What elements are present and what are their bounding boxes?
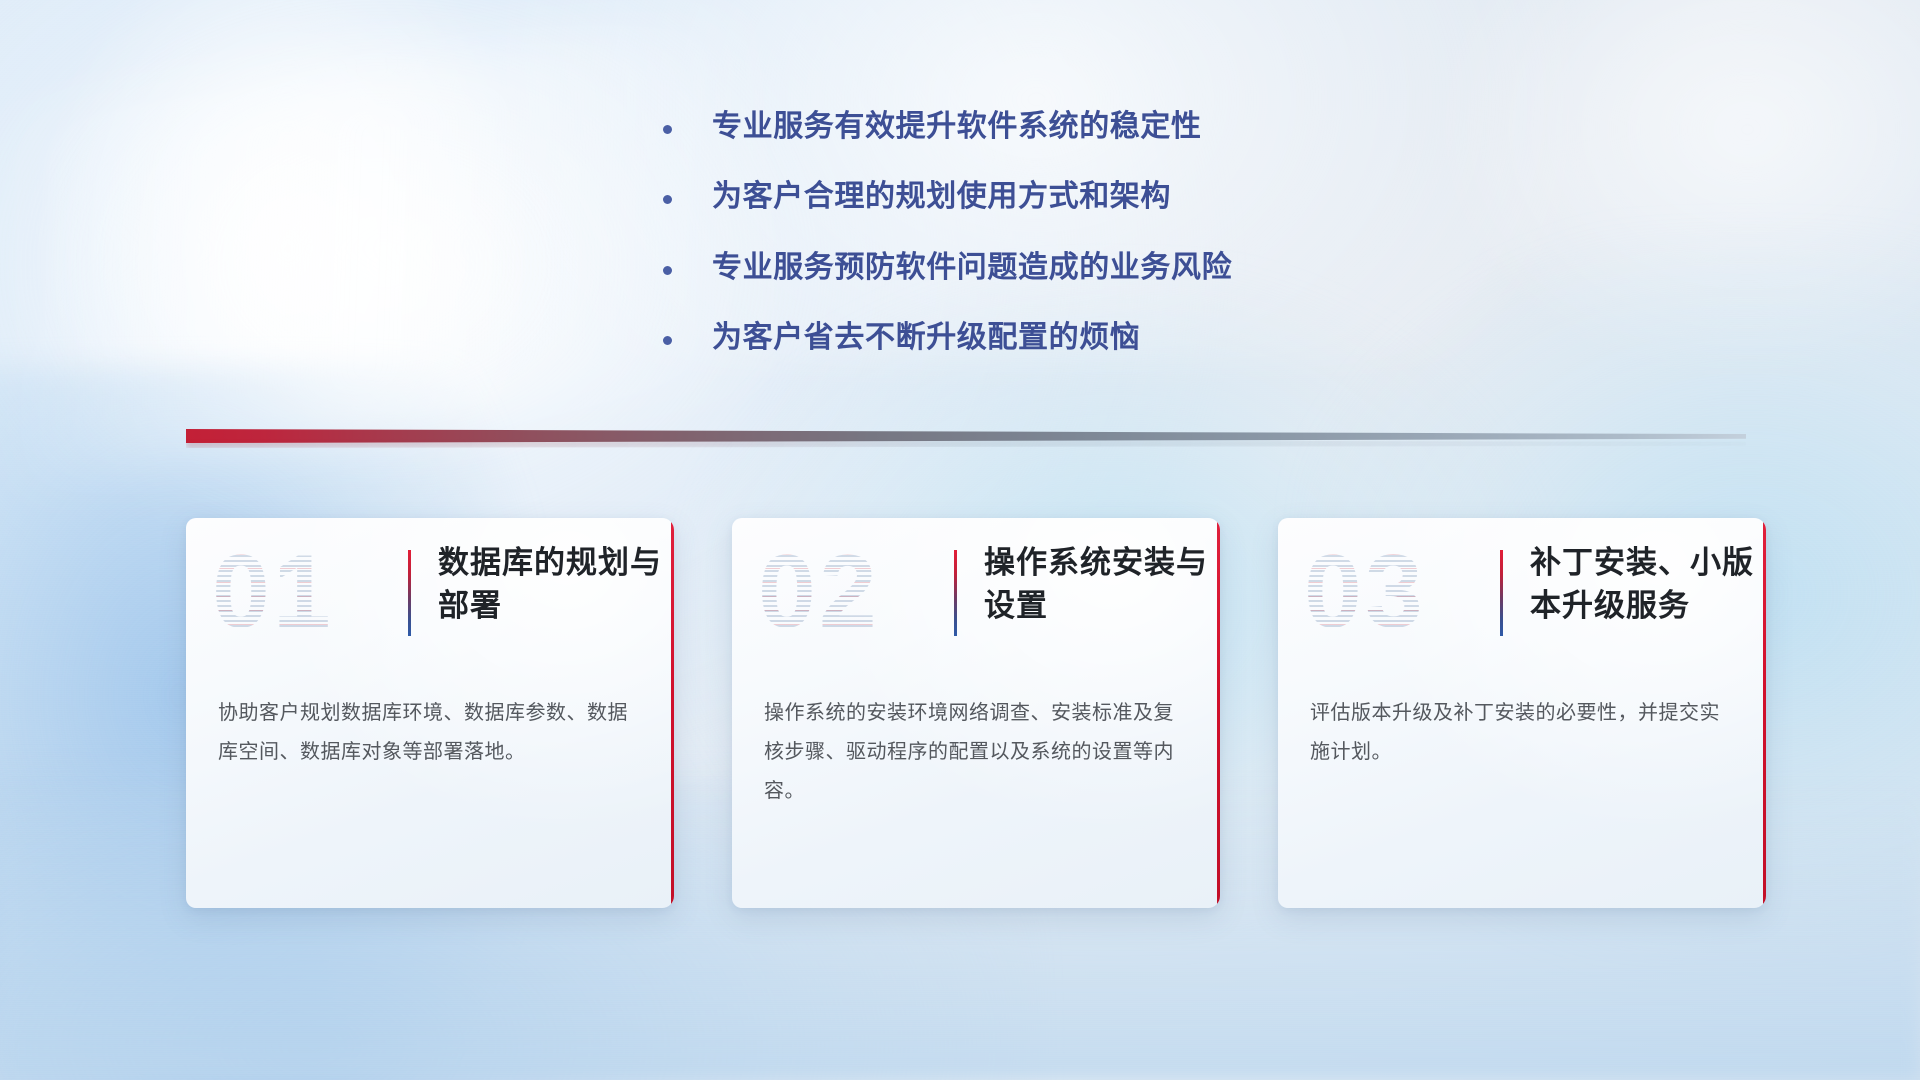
service-card-01[interactable]: 01 01 数据库的规划与部署 协助客户规划数据库环境、数据库参数、数据库空间、…: [186, 518, 674, 908]
list-item: 为客户省去不断升级配置的烦恼: [663, 319, 1423, 357]
card-title: 补丁安装、小版本升级服务: [1530, 542, 1758, 628]
list-item: 专业服务预防软件问题造成的业务风险: [663, 249, 1423, 287]
divider-line: [186, 429, 1746, 443]
bullet-dot-icon: [663, 266, 672, 275]
card-number-watermark-tint: 01: [212, 540, 334, 644]
card-divider-bar: [408, 550, 411, 636]
card-divider-bar: [954, 550, 957, 636]
list-item: 专业服务有效提升软件系统的稳定性: [663, 108, 1423, 146]
card-description: 协助客户规划数据库环境、数据库参数、数据库空间、数据库对象等部署落地。: [218, 694, 642, 772]
card-divider-bar: [1500, 550, 1503, 636]
bullet-label: 为客户合理的规划使用方式和架构: [712, 178, 1171, 216]
card-number-watermark-tint: 03: [1304, 540, 1426, 644]
card-title: 操作系统安装与设置: [984, 542, 1212, 628]
bullet-label: 专业服务有效提升软件系统的稳定性: [712, 108, 1202, 146]
card-description: 评估版本升级及补丁安装的必要性，并提交实施计划。: [1310, 694, 1734, 772]
bullet-dot-icon: [663, 336, 672, 345]
list-item: 为客户合理的规划使用方式和架构: [663, 178, 1423, 216]
bullet-dot-icon: [663, 195, 672, 204]
card-description: 操作系统的安装环境网络调查、安装标准及复核步骤、驱动程序的配置以及系统的设置等内…: [764, 694, 1188, 811]
service-card-03[interactable]: 03 03 补丁安装、小版本升级服务 评估版本升级及补丁安装的必要性，并提交实施…: [1278, 518, 1766, 908]
benefits-bullet-list: 专业服务有效提升软件系统的稳定性 为客户合理的规划使用方式和架构 专业服务预防软…: [663, 108, 1423, 390]
bullet-label: 为客户省去不断升级配置的烦恼: [712, 319, 1140, 357]
card-header: 02 02 操作系统安装与设置: [732, 518, 1220, 670]
bullet-dot-icon: [663, 125, 672, 134]
service-card-group: 01 01 数据库的规划与部署 协助客户规划数据库环境、数据库参数、数据库空间、…: [186, 518, 1766, 908]
service-card-02[interactable]: 02 02 操作系统安装与设置 操作系统的安装环境网络调查、安装标准及复核步骤、…: [732, 518, 1220, 908]
card-title: 数据库的规划与部署: [438, 542, 666, 628]
bullet-label: 专业服务预防软件问题造成的业务风险: [712, 249, 1232, 287]
section-divider: [186, 429, 1746, 445]
card-header: 01 01 数据库的规划与部署: [186, 518, 674, 670]
card-number-watermark-tint: 02: [758, 540, 880, 644]
card-header: 03 03 补丁安装、小版本升级服务: [1278, 518, 1766, 670]
